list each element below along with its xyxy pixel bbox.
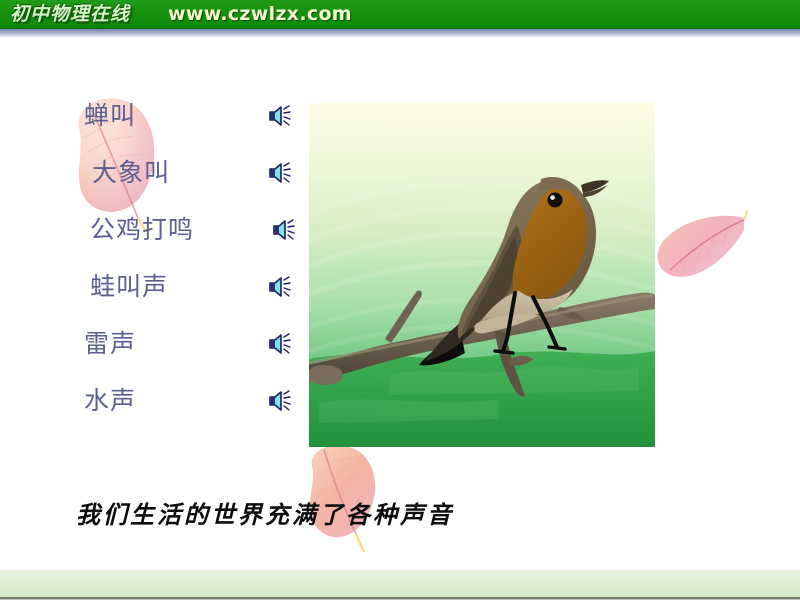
speaker-icon[interactable]	[268, 275, 296, 299]
speaker-icon[interactable]	[268, 332, 296, 356]
sound-list-item[interactable]: 公鸡打鸣	[84, 212, 314, 269]
leaf-right-edge-icon	[652, 196, 748, 296]
sound-item-list: 蝉叫 大象叫	[84, 98, 314, 440]
site-header-banner: 初中物理在线 www.czwlzx.com	[0, 0, 800, 29]
sound-list-item[interactable]: 大象叫	[84, 155, 314, 212]
sound-list-item[interactable]: 蛙叫声	[84, 269, 314, 326]
site-logo-text: 初中物理在线	[10, 2, 130, 27]
speaker-icon[interactable]	[268, 104, 296, 128]
slide-canvas: 初中物理在线 www.czwlzx.com	[0, 0, 800, 600]
sound-list-item[interactable]: 水声	[84, 383, 314, 440]
sound-list-item[interactable]: 雷声	[84, 326, 314, 383]
sound-item-label: 蝉叫	[84, 98, 136, 134]
sound-item-label: 大象叫	[92, 155, 170, 191]
speaker-icon[interactable]	[268, 389, 296, 413]
sound-item-label: 公鸡打鸣	[90, 212, 194, 248]
bird-on-branch-picture	[309, 103, 655, 447]
speaker-icon[interactable]	[268, 161, 296, 185]
header-underglow-strip	[0, 29, 800, 38]
site-url-text: www.czwlzx.com	[168, 2, 352, 27]
sound-item-label: 蛙叫声	[90, 269, 168, 305]
speaker-icon[interactable]	[272, 218, 300, 242]
sound-item-label: 水声	[84, 383, 136, 419]
leaf-bottom-center-icon	[290, 440, 400, 552]
footer-band	[0, 570, 800, 597]
sound-item-label: 雷声	[84, 326, 136, 362]
sound-list-item[interactable]: 蝉叫	[84, 98, 314, 155]
slide-caption: 我们生活的世界充满了各种声音	[76, 498, 454, 532]
